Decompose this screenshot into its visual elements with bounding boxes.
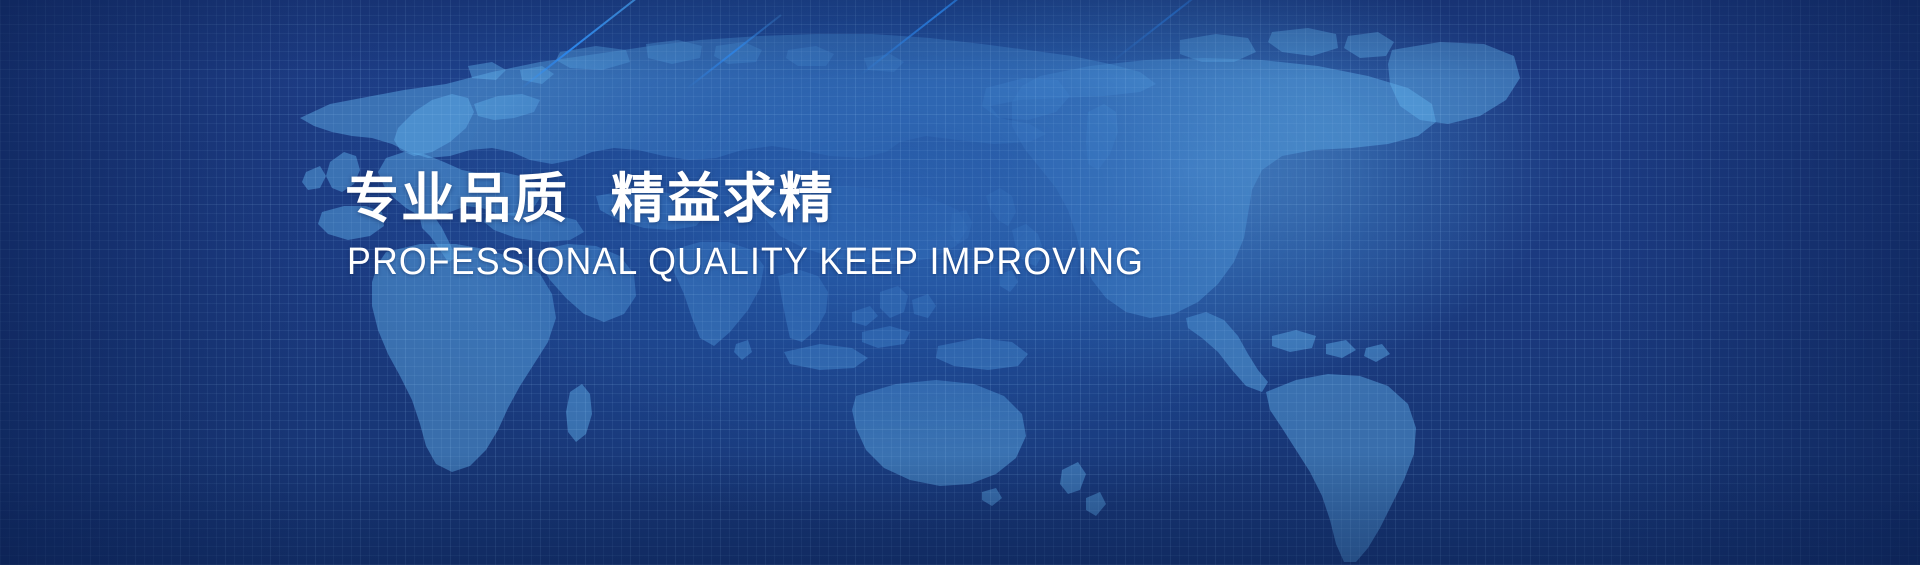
banner-headline-chinese: 专业品质 精益求精	[345, 170, 1195, 228]
banner-subheadline-english: PROFESSIONAL QUALITY KEEP IMPROVING	[347, 242, 1144, 284]
banner-copy-block: 专业品质 精益求精 PROFESSIONAL QUALITY KEEP IMPR…	[345, 170, 1195, 284]
hero-banner: 专业品质 精益求精 PROFESSIONAL QUALITY KEEP IMPR…	[0, 0, 1920, 565]
